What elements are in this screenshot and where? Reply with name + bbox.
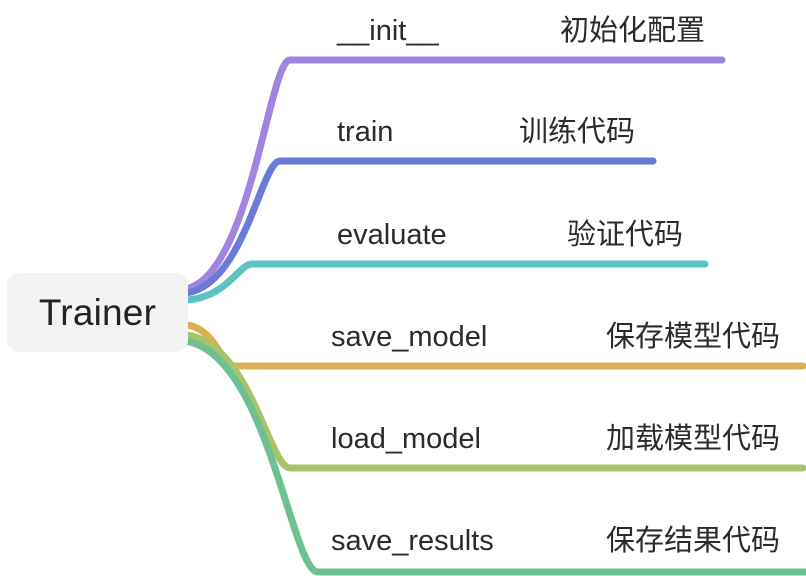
method-label---init--[interactable]: __init__ bbox=[337, 17, 439, 46]
branch-line---init-- bbox=[186, 60, 722, 289]
method-label-save-results[interactable]: save_results bbox=[331, 527, 494, 556]
description-label-save-model[interactable]: 保存模型代码 bbox=[606, 323, 780, 352]
root-node-trainer[interactable]: Trainer bbox=[7, 273, 188, 352]
description-label-save-results[interactable]: 保存结果代码 bbox=[606, 527, 780, 556]
description-label-load-model[interactable]: 加载模型代码 bbox=[606, 425, 780, 454]
method-label-train[interactable]: train bbox=[337, 118, 393, 147]
method-label-save-model[interactable]: save_model bbox=[331, 323, 487, 352]
description-label-evaluate[interactable]: 验证代码 bbox=[567, 221, 683, 250]
description-label---init--[interactable]: 初始化配置 bbox=[560, 17, 705, 46]
description-label-train[interactable]: 训练代码 bbox=[519, 118, 635, 147]
method-label-evaluate[interactable]: evaluate bbox=[337, 221, 447, 250]
method-label-load-model[interactable]: load_model bbox=[331, 425, 481, 454]
mindmap-canvas: Trainer __init__初始化配置train训练代码evaluate验证… bbox=[0, 0, 806, 576]
branch-line-evaluate bbox=[186, 264, 705, 300]
root-node-label: Trainer bbox=[39, 294, 156, 331]
